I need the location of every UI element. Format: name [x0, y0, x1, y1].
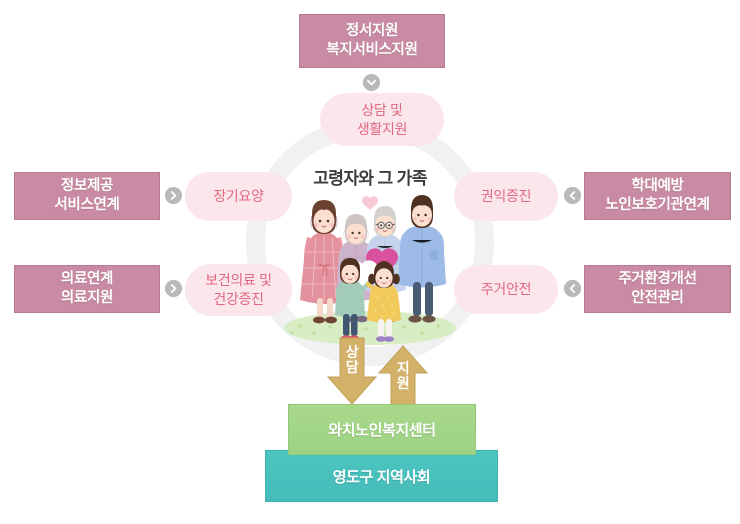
outer-box-line1: 학대예방 [605, 177, 709, 196]
outer-box-line1: 의료연계 [61, 270, 113, 289]
outer-box-line1: 주거환경개선 [618, 270, 696, 289]
chevron-down-icon [363, 74, 380, 91]
outer-box-line1: 정보제공 [54, 177, 119, 196]
pill-line2: 건강증진 [205, 290, 272, 309]
outer-box-line2: 복지서비스지원 [326, 41, 417, 60]
chevron-right-icon [165, 280, 182, 297]
pill-line1: 장기요양 [213, 187, 263, 206]
pill-line1: 주거안전 [481, 280, 531, 299]
arrow-up-char2: 원 [397, 375, 409, 391]
family-illustration [270, 186, 470, 346]
welfare-center-block[interactable]: 와치노인복지센터 [288, 404, 476, 455]
pill-line1: 상담 및 [357, 101, 407, 120]
arrow-down-label: 상 담 [341, 345, 363, 374]
outer-box-line1: 정서지원 [326, 22, 417, 41]
outer-box-line2: 노인보호기관연계 [605, 196, 709, 215]
pill-line1: 보건의료 및 [205, 271, 272, 290]
diagram-canvas: 정서지원 복지서비스지원 상담 및 생활지원 정보제공 서비스연계 장기요양 [0, 0, 740, 524]
outer-box-housing-improvement[interactable]: 주거환경개선 안전관리 [584, 265, 731, 313]
outer-box-information-service-link[interactable]: 정보제공 서비스연계 [14, 172, 160, 220]
chevron-left-icon [564, 280, 581, 297]
outer-box-abuse-prevention[interactable]: 학대예방 노인보호기관연계 [584, 172, 731, 220]
pill-line2: 생활지원 [357, 120, 407, 139]
pill-line1: 권익증진 [481, 187, 531, 206]
page-title: 고령자와 그 가족 [270, 164, 470, 189]
arrow-up-label: 지 원 [392, 361, 414, 390]
arrow-down-char1: 상 [346, 344, 358, 360]
arrow-up-char1: 지 [397, 360, 409, 376]
outer-box-line2: 의료지원 [61, 289, 113, 308]
chevron-left-icon [564, 187, 581, 204]
outer-box-emotional-support[interactable]: 정서지원 복지서비스지원 [299, 14, 445, 68]
outer-box-medical-link-support[interactable]: 의료연계 의료지원 [14, 265, 160, 313]
outer-box-line2: 서비스연계 [54, 196, 119, 215]
outer-box-line2: 안전관리 [618, 289, 696, 308]
arrow-down-char2: 담 [346, 359, 358, 375]
chevron-right-icon [165, 187, 182, 204]
community-block[interactable]: 영도구 지역사회 [265, 450, 498, 502]
pill-counseling-living-support[interactable]: 상담 및 생활지원 [320, 93, 444, 146]
